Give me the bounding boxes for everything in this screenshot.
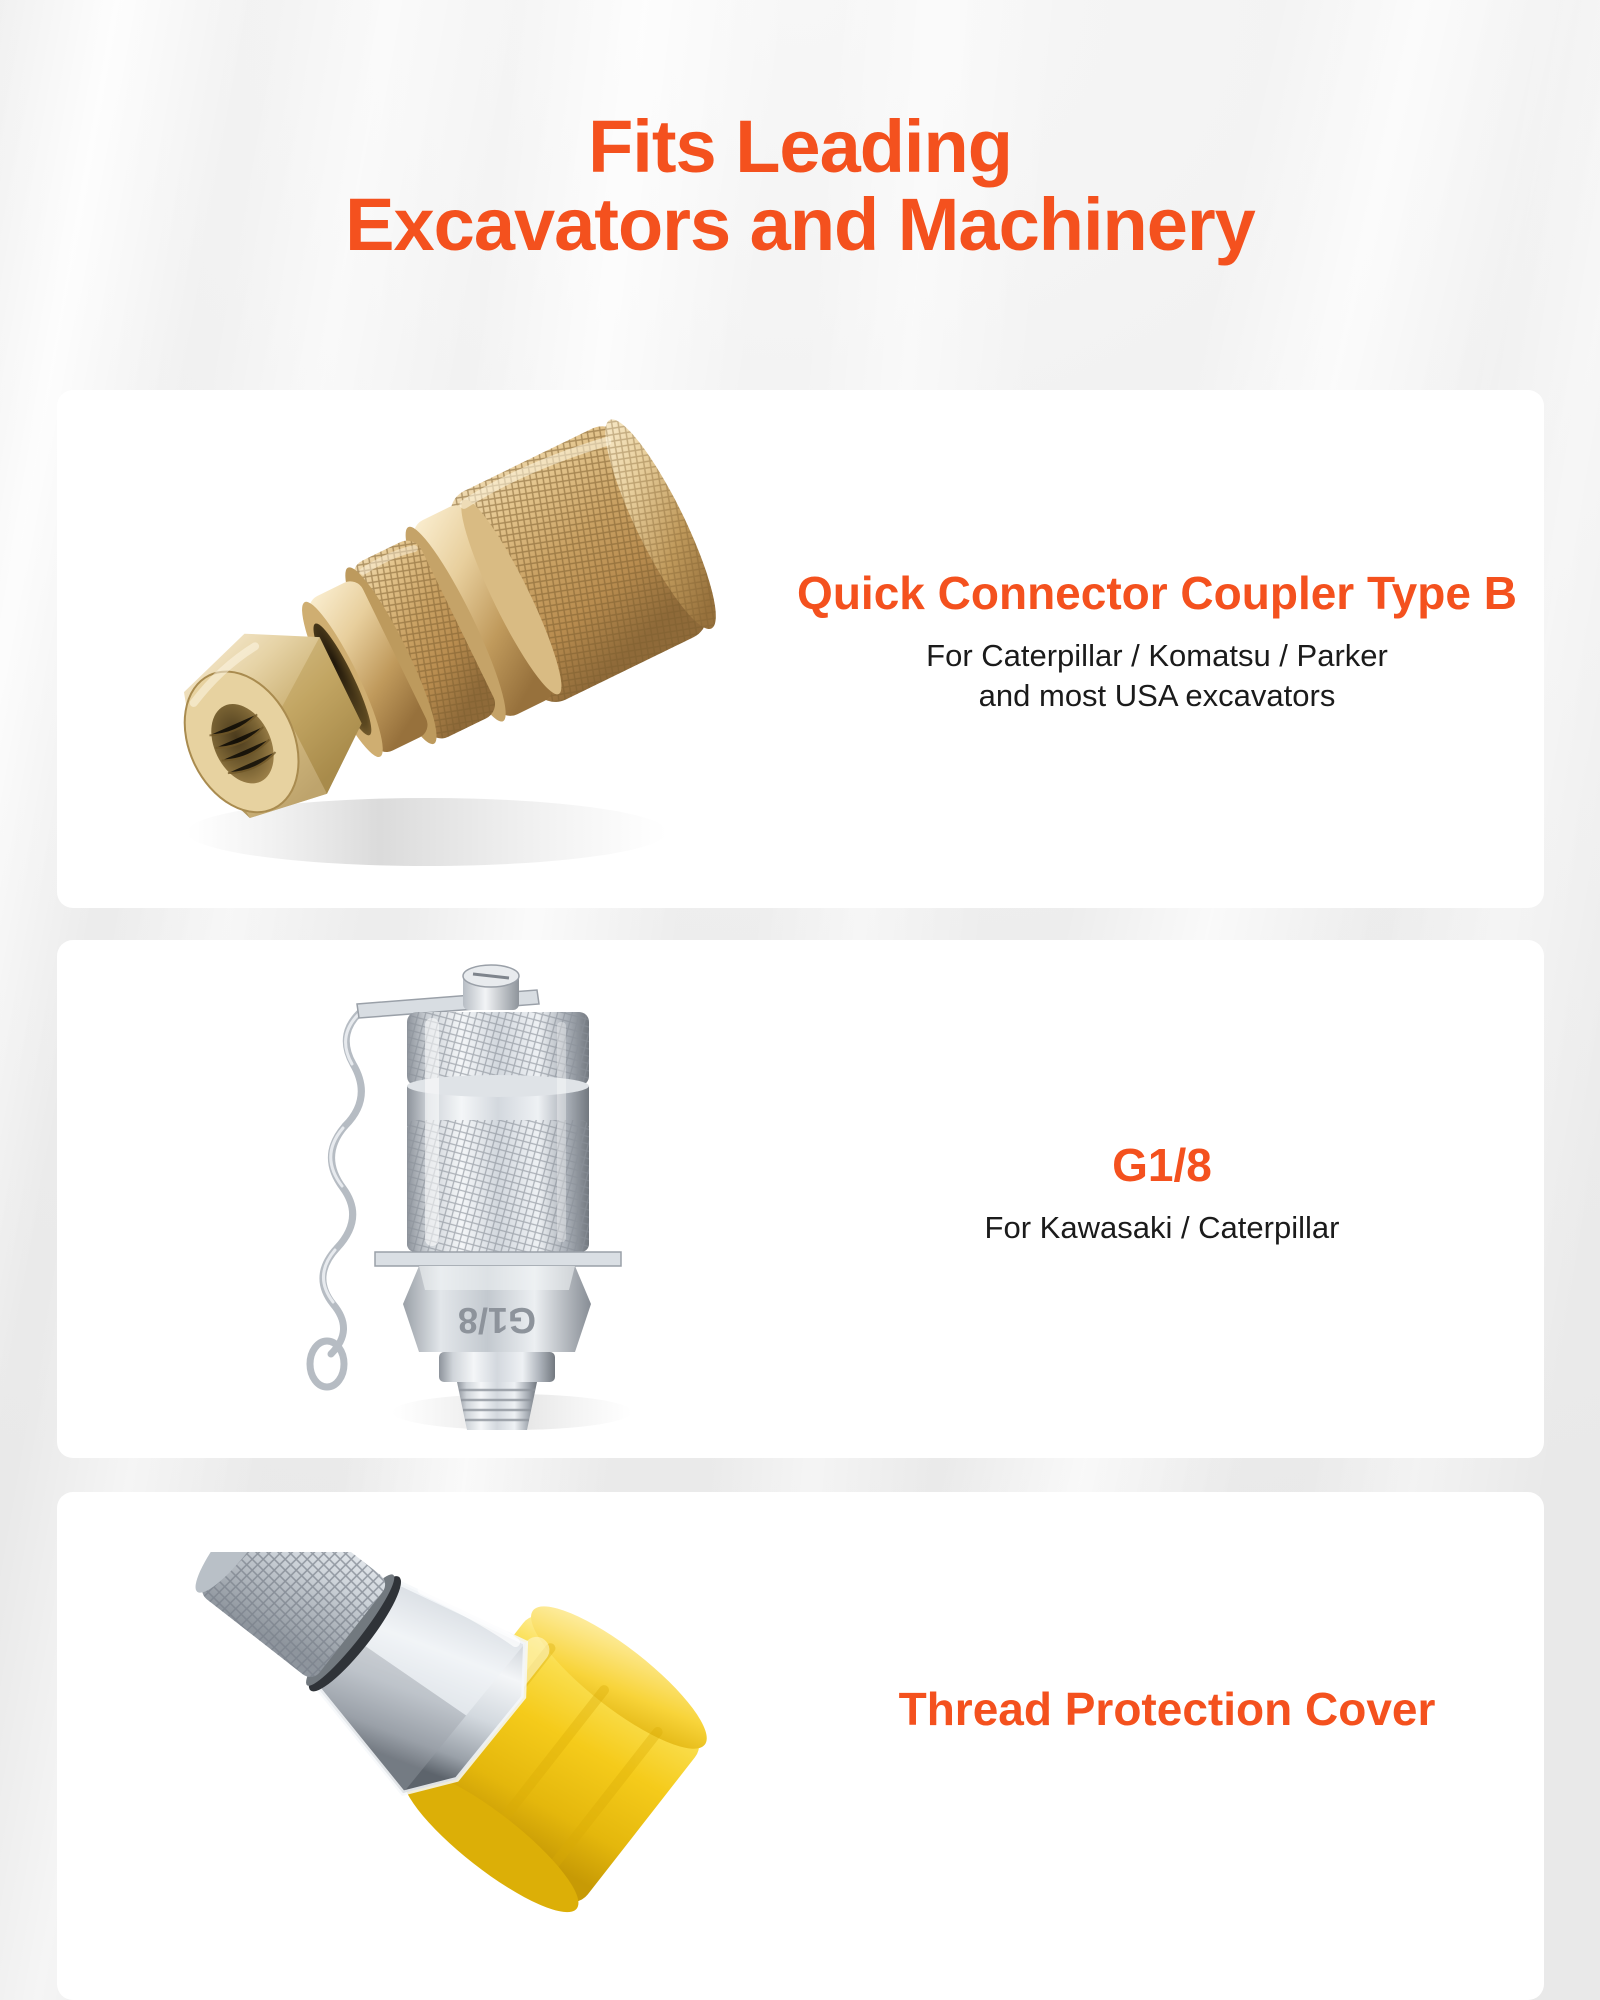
product-card-g1-8: G1/8 G1/8 bbox=[57, 940, 1544, 1458]
product-subtitle-line-1: For Kawasaki / Caterpillar bbox=[817, 1208, 1507, 1249]
product-subtitle-line-1: For Caterpillar / Komatsu / Parker bbox=[757, 636, 1544, 677]
product-title-g1-8: G1/8 bbox=[817, 1140, 1507, 1192]
hex-engraving-g1-8: G1/8 bbox=[458, 1300, 536, 1341]
product-card-quick-connector-coupler-type-b: Quick Connector Coupler Type B For Cater… bbox=[57, 390, 1544, 908]
chrome-test-point-coupling-photo: G1/8 bbox=[257, 960, 717, 1440]
card-2-text-block: G1/8 For Kawasaki / Caterpillar bbox=[817, 1140, 1507, 1248]
infographic-page: Fits Leading Excavators and Machinery bbox=[0, 0, 1600, 2000]
product-subtitle-g1-8: For Kawasaki / Caterpillar bbox=[817, 1208, 1507, 1249]
product-subtitle-quick-connector-coupler-type-b: For Caterpillar / Komatsu / Parker and m… bbox=[757, 636, 1544, 718]
brass-quick-coupler-photo bbox=[117, 400, 757, 900]
page-title-line-2: Excavators and Machinery bbox=[0, 186, 1600, 264]
product-title-quick-connector-coupler-type-b: Quick Connector Coupler Type B bbox=[757, 568, 1544, 620]
card-1-text-block: Quick Connector Coupler Type B For Cater… bbox=[757, 568, 1544, 717]
product-card-thread-protection-cover: Thread Protection Cover bbox=[57, 1492, 1544, 2000]
card-3-text-block: Thread Protection Cover bbox=[757, 1684, 1544, 1736]
yellow-thread-protection-cover-photo bbox=[117, 1552, 757, 2000]
page-title-line-1: Fits Leading bbox=[0, 108, 1600, 186]
product-subtitle-line-2: and most USA excavators bbox=[757, 676, 1544, 717]
product-title-thread-protection-cover: Thread Protection Cover bbox=[757, 1684, 1544, 1736]
page-title: Fits Leading Excavators and Machinery bbox=[0, 108, 1600, 265]
